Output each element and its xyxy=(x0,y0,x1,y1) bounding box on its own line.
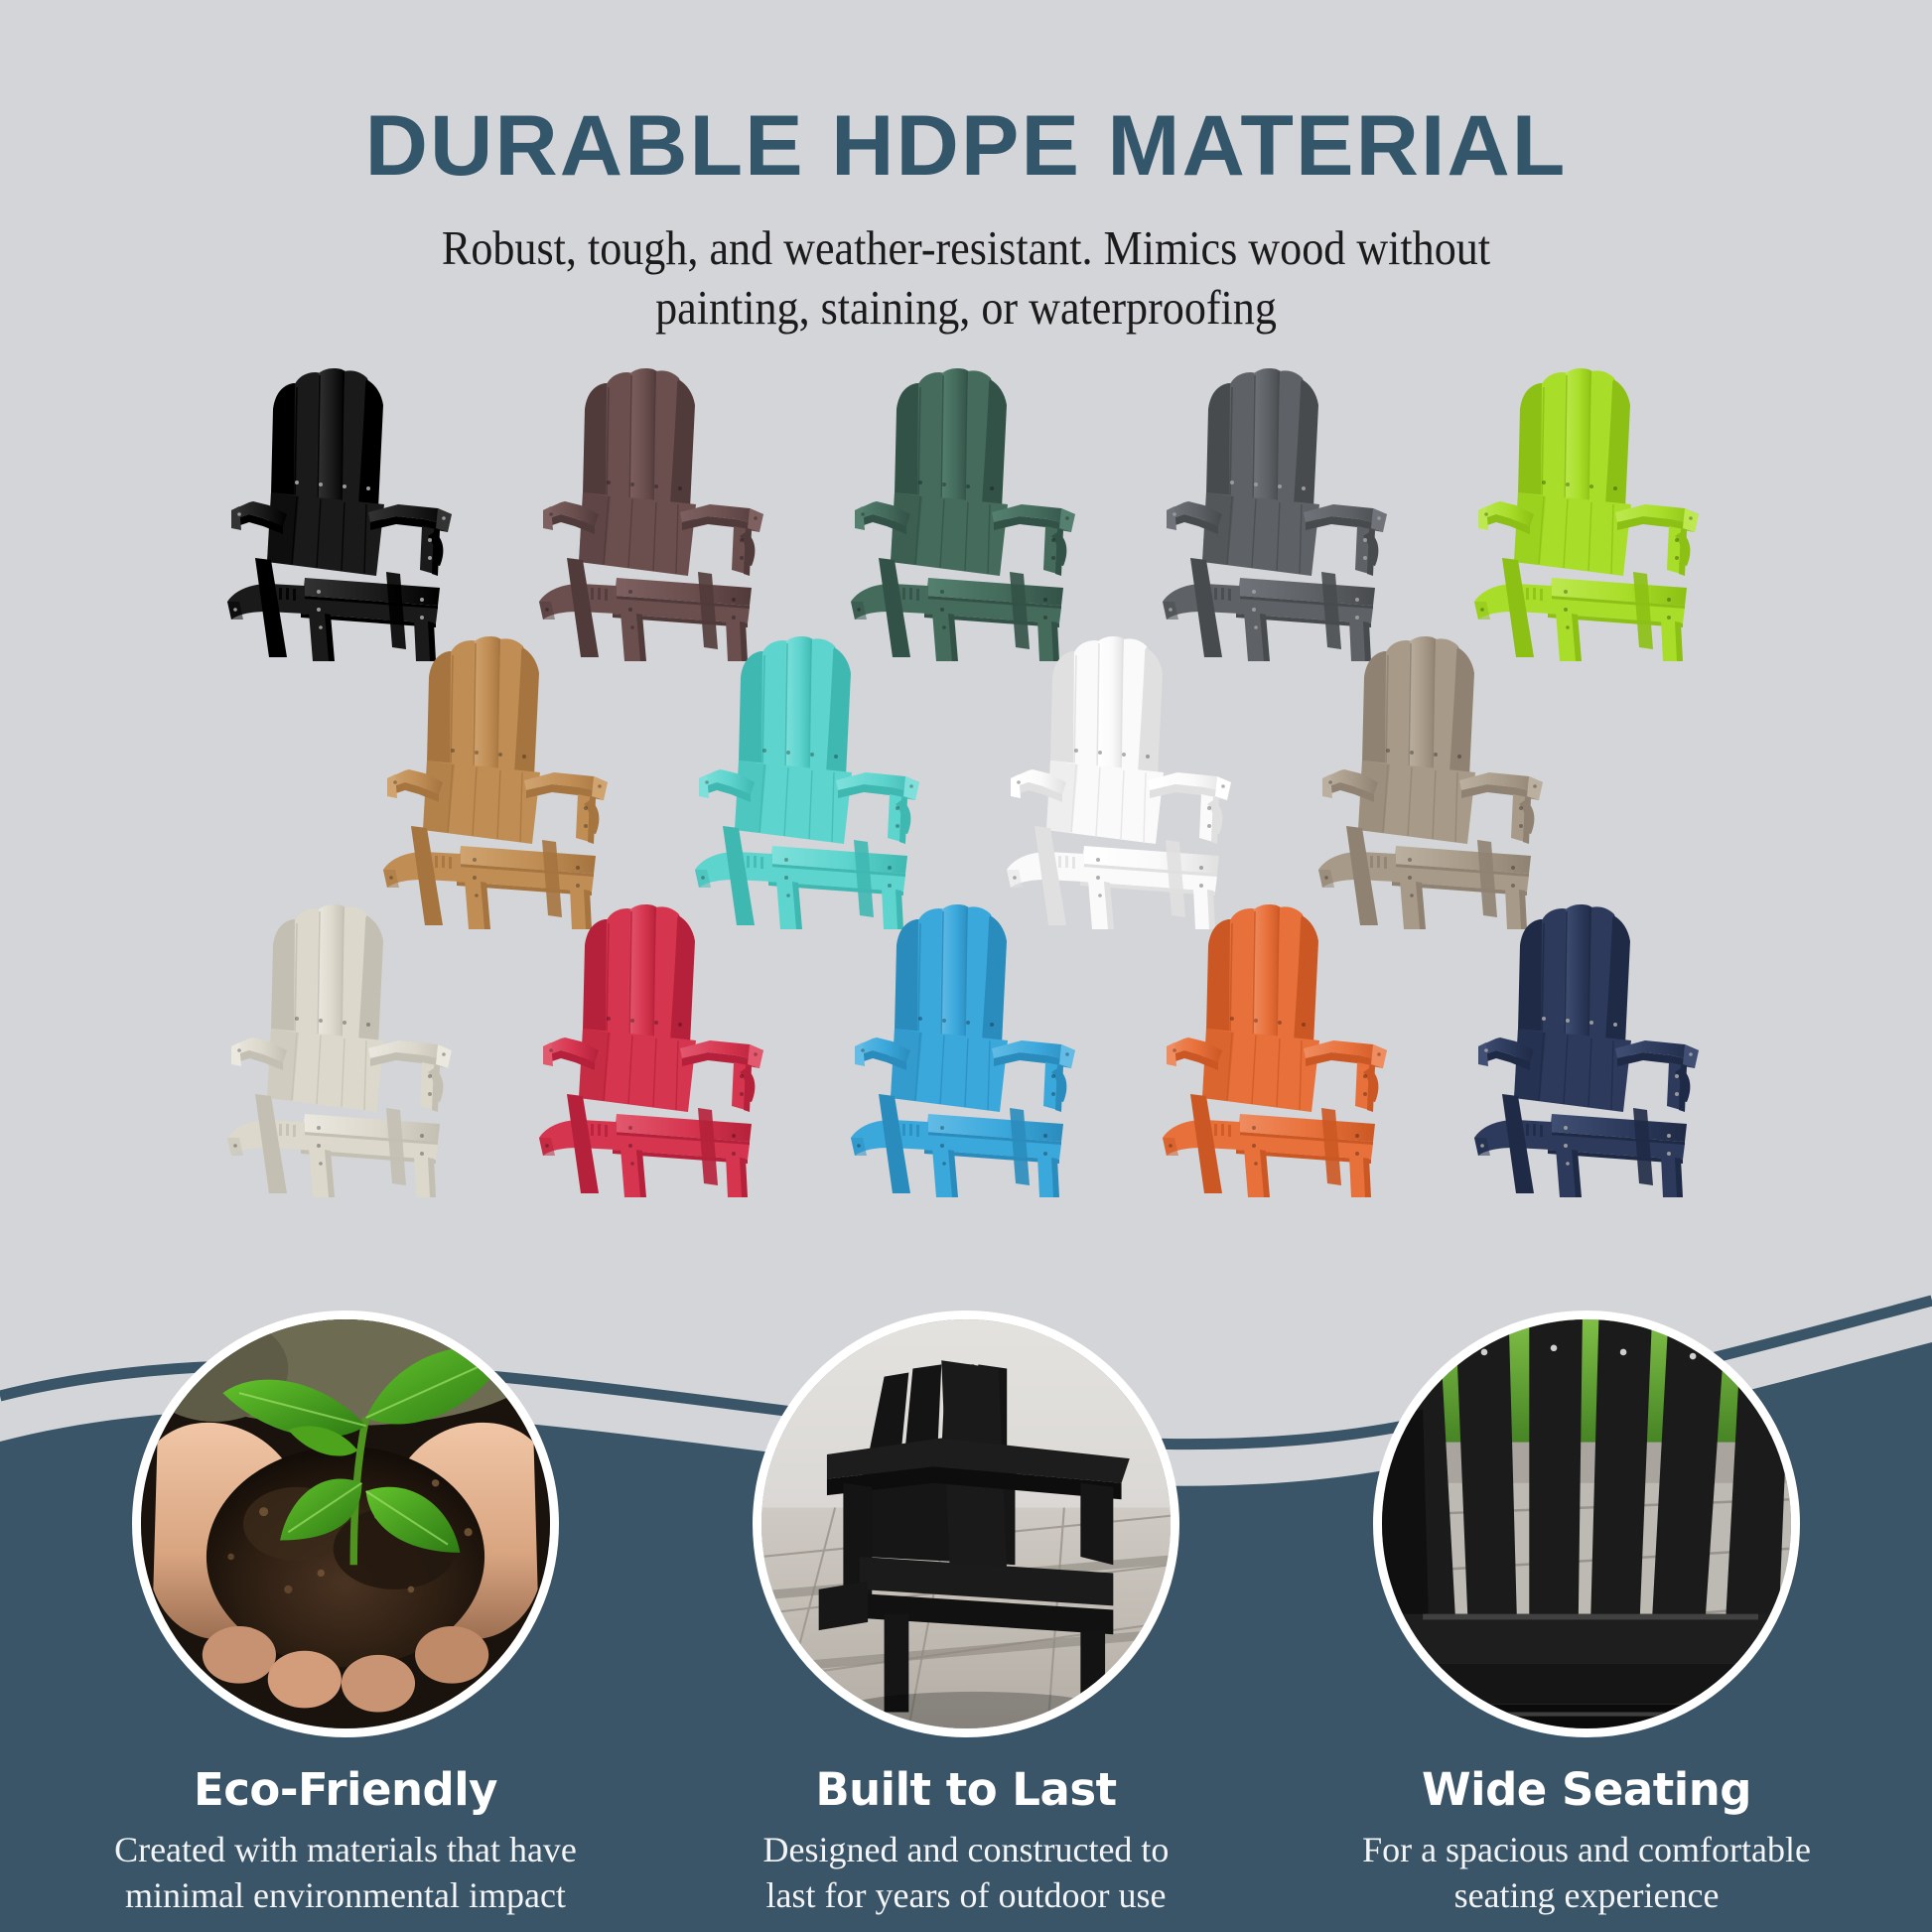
infographic-canvas: DURABLE HDPE MATERIAL Robust, tough, and… xyxy=(0,0,1932,1932)
subtitle-line-1: Robust, tough, and weather-resistant. Mi… xyxy=(341,218,1591,278)
chair-row-3 xyxy=(0,899,1932,1197)
feature-eco-friendly: Eco-Friendly Created with materials that… xyxy=(48,1311,643,1918)
chair-swatch-dark-green[interactable] xyxy=(833,363,1099,661)
feature-desc-line-1: Created with materials that have xyxy=(114,1830,577,1869)
chair-swatch-white[interactable] xyxy=(989,631,1255,929)
features-section: Eco-Friendly Created with materials that… xyxy=(0,1217,1932,1932)
chair-swatch-taupe[interactable] xyxy=(1301,631,1567,929)
feature-desc-line-2: seating experience xyxy=(1454,1875,1720,1915)
feature-desc-line-2: minimal environmental impact xyxy=(125,1875,566,1915)
feature-wide-seating: Wide Seating For a spacious and comforta… xyxy=(1289,1311,1884,1918)
chair-swatch-lime-green[interactable] xyxy=(1456,363,1723,661)
chair-swatch-turquoise[interactable] xyxy=(677,631,943,929)
feature-image-black-chair-patio xyxy=(753,1311,1179,1737)
feature-desc-line-1: Designed and constructed to xyxy=(763,1830,1170,1869)
chair-swatch-orange[interactable] xyxy=(1145,899,1411,1197)
feature-image-chair-back-closeup xyxy=(1373,1311,1800,1737)
chair-row-1 xyxy=(0,363,1932,661)
page-title: DURABLE HDPE MATERIAL xyxy=(0,0,1932,189)
chair-swatch-blue[interactable] xyxy=(833,899,1099,1197)
feature-description: For a spacious and comfortable seating e… xyxy=(1289,1828,1884,1918)
feature-built-to-last: Built to Last Designed and constructed t… xyxy=(668,1311,1264,1918)
chair-swatch-grey[interactable] xyxy=(1145,363,1411,661)
feature-image-hands-seedling xyxy=(132,1311,559,1737)
chair-swatch-navy[interactable] xyxy=(1456,899,1723,1197)
header-section: DURABLE HDPE MATERIAL Robust, tough, and… xyxy=(0,0,1932,338)
subtitle-line-2: painting, staining, or waterproofing xyxy=(341,278,1591,338)
feature-description: Designed and constructed to last for yea… xyxy=(668,1828,1264,1918)
chair-swatch-ivory[interactable] xyxy=(209,899,476,1197)
feature-title: Wide Seating xyxy=(1289,1767,1884,1812)
chair-color-grid xyxy=(0,363,1932,1237)
feature-desc-line-2: last for years of outdoor use xyxy=(766,1875,1167,1915)
chair-swatch-teak[interactable] xyxy=(365,631,631,929)
feature-title: Eco-Friendly xyxy=(48,1767,643,1812)
chair-swatch-brown[interactable] xyxy=(521,363,787,661)
feature-desc-line-1: For a spacious and comfortable xyxy=(1362,1830,1811,1869)
chair-row-2 xyxy=(0,631,1932,929)
chair-swatch-black[interactable] xyxy=(209,363,476,661)
feature-title: Built to Last xyxy=(668,1767,1264,1812)
page-subtitle: Robust, tough, and weather-resistant. Mi… xyxy=(341,218,1591,338)
feature-description: Created with materials that have minimal… xyxy=(48,1828,643,1918)
chair-swatch-red[interactable] xyxy=(521,899,787,1197)
